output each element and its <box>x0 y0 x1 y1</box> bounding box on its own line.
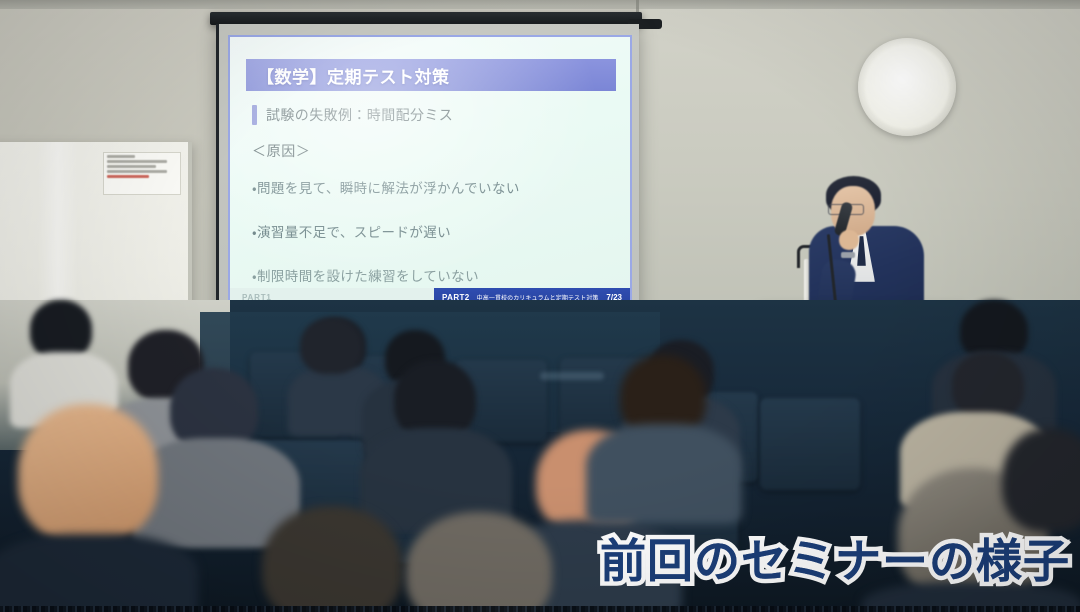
notice-line-highlight <box>107 175 149 178</box>
slide-section-label: ＜原因＞ <box>252 141 310 161</box>
wall-clock-icon <box>858 38 956 136</box>
notice-line <box>107 170 167 173</box>
ceiling-edge <box>0 0 1080 9</box>
sensor-noise-strip <box>0 606 1080 612</box>
presenter-hand-holding-mic <box>839 230 859 250</box>
slide-bullet: ・演習量不足で、スピードが遅い <box>252 221 616 241</box>
audience-head <box>1002 428 1080 532</box>
clock-minute-hand <box>892 89 907 117</box>
notice-line <box>107 155 135 158</box>
wristwatch-icon <box>841 252 855 258</box>
chair-highlight <box>540 372 604 380</box>
seminar-photo: 【数学】定期テスト対策 試験の失敗例：時間配分ミス ＜原因＞ ・問題を見て、瞬時… <box>0 0 1080 612</box>
audience-head <box>952 352 1024 420</box>
posted-notice <box>103 152 181 195</box>
audience-shoulders <box>0 534 198 612</box>
audience-head <box>18 404 158 544</box>
audience-head <box>300 318 362 374</box>
clock-hour-hand <box>905 70 919 91</box>
slide-subtitle-row: 試験の失敗例：時間配分ミス <box>252 105 453 125</box>
subtitle-accent-bar <box>252 105 257 125</box>
slide-title: 【数学】定期テスト対策 <box>246 63 450 88</box>
slide-title-band: 【数学】定期テスト対策 <box>246 59 616 91</box>
audience-head <box>262 506 402 612</box>
audience-head <box>406 512 552 612</box>
photo-caption: 前回のセミナーの様子 <box>600 525 1070 591</box>
audience-head <box>30 300 92 360</box>
notice-line <box>107 165 156 168</box>
slide-bullet-list: ・問題を見て、瞬時に解法が浮かんでいない ・演習量不足で、スピードが遅い ・制限… <box>252 177 616 285</box>
slide-bullet: ・制限時間を設けた練習をしていない <box>252 265 616 285</box>
slide-subtitle: 試験の失敗例：時間配分ミス <box>266 105 453 125</box>
notice-line <box>107 160 167 163</box>
chair <box>760 398 860 490</box>
audience-shoulders <box>586 424 742 524</box>
presentation-slide: 【数学】定期テスト対策 試験の失敗例：時間配分ミス ＜原因＞ ・問題を見て、瞬時… <box>228 35 632 309</box>
projection-screen: 【数学】定期テスト対策 試験の失敗例：時間配分ミス ＜原因＞ ・問題を見て、瞬時… <box>216 24 639 314</box>
slide-bullet: ・問題を見て、瞬時に解法が浮かんでいない <box>252 177 616 197</box>
